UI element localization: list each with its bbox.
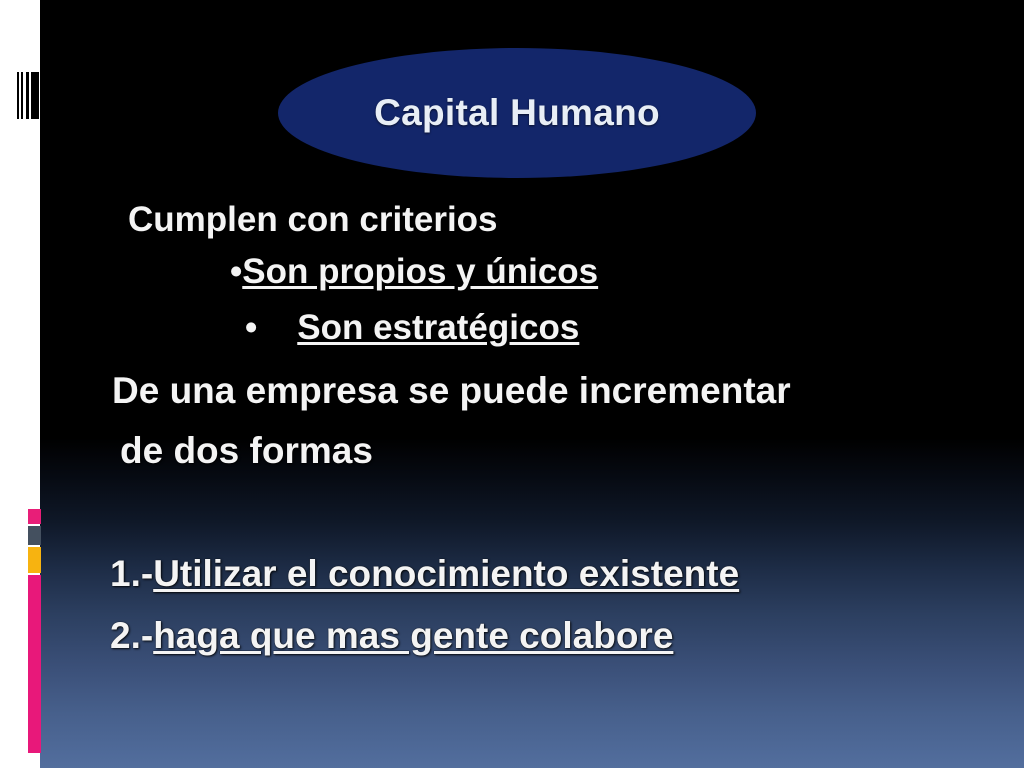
numbered-item-1: 1.-Utilizar el conocimiento existente: [110, 553, 739, 595]
numbered-text-2: haga que mas gente colabore: [153, 615, 673, 656]
numbered-marker-1: 1.-: [110, 553, 153, 594]
numbered-item-2: 2.-haga que mas gente colabore: [110, 615, 673, 657]
title-ellipse: Capital Humano: [278, 48, 756, 178]
bullet-marker-1: •: [230, 252, 242, 291]
barcode-bar: [31, 72, 39, 119]
body-heading: Cumplen con criterios: [128, 200, 498, 240]
chip-slate: [28, 526, 41, 545]
left-margin-strip: [0, 0, 40, 768]
bar-magenta: [28, 575, 41, 753]
bullet-item-2: •Son estratégicos: [245, 308, 579, 348]
numbered-text-1: Utilizar el conocimiento existente: [153, 553, 739, 594]
bullet-text-2: Son estratégicos: [297, 308, 579, 347]
barcode-stripes-icon: [17, 72, 42, 119]
numbered-marker-2: 2.-: [110, 615, 153, 656]
chip-amber: [28, 547, 41, 573]
bullet-item-1: •Son propios y únicos: [230, 252, 598, 292]
bullet-marker-2: •: [245, 308, 257, 347]
bullet-text-1: Son propios y únicos: [242, 252, 598, 291]
paragraph-line-1: De una empresa se puede incrementar: [112, 370, 791, 412]
paragraph-line-2: de dos formas: [120, 430, 373, 472]
chip-magenta: [28, 509, 41, 524]
page-title: Capital Humano: [374, 92, 660, 134]
slide-canvas: Capital Humano Cumplen con criterios •So…: [0, 0, 1024, 768]
